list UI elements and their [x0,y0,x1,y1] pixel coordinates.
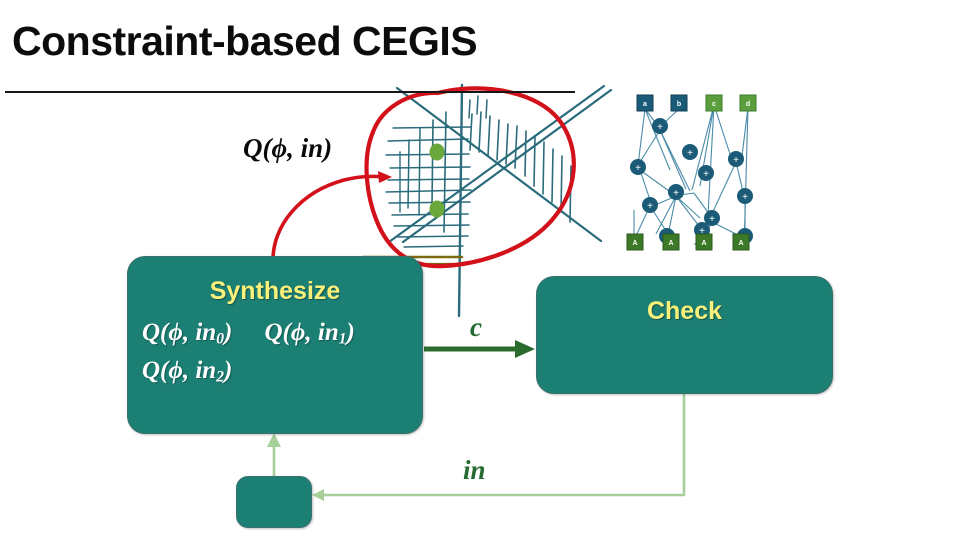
arrowhead-feedback-left [312,489,324,501]
dag-input-nodes: a b c d [637,95,756,111]
svg-text:+: + [709,214,715,225]
dag-output-nodes: A A A A [627,234,749,250]
synthesize-formula-row-2: Q(ϕ, in2) [142,357,232,386]
svg-text:b: b [677,101,681,108]
synthesize-formula-1: Q(ϕ, in1) [265,319,355,348]
formula-0-sub: 0 [216,330,224,347]
label-query-formula: Q(ϕ, in) [243,133,332,164]
svg-text:+: + [742,192,748,203]
svg-text:+: + [733,155,739,166]
svg-text:d: d [746,101,750,108]
counterexample-box[interactable] [236,476,312,528]
check-title: Check [537,297,832,326]
svg-text:A: A [701,240,706,247]
formula-1-head: Q(ϕ, in [265,319,339,346]
edge-label-candidate: c [470,312,482,343]
dag-operator-labels: + + + + + + + + + + + + [635,122,748,243]
svg-text:a: a [643,101,647,108]
formula-2-sub: 2 [216,368,224,385]
svg-text:c: c [712,101,716,108]
edge-label-input: in [463,455,486,486]
svg-text:+: + [657,122,663,133]
synthesize-formula-0: Q(ϕ, in0) [142,319,232,348]
svg-text:+: + [673,188,679,199]
svg-text:+: + [647,201,653,212]
page-title: Constraint-based CEGIS [12,18,477,65]
formula-0-head: Q(ϕ, in [142,319,216,346]
svg-text:A: A [738,240,743,247]
synthesize-formula-row-1: Q(ϕ, in0) Q(ϕ, in1) [142,319,355,348]
svg-text:A: A [668,240,673,247]
title-divider [5,91,575,93]
arrowhead-feedback-up [267,433,281,447]
slide-canvas: a b c d [0,0,960,540]
formula-0-tail: ) [224,319,232,346]
formula-2-head: Q(ϕ, in [142,357,216,384]
svg-text:+: + [687,148,693,159]
formula-1-tail: ) [346,319,354,346]
dag-diagram: a b c d [627,95,756,250]
synthesize-title: Synthesize [128,277,422,306]
dag-operator-nodes [630,118,753,244]
synthesize-box[interactable]: Synthesize Q(ϕ, in0) Q(ϕ, in1) Q(ϕ, in2) [127,256,423,434]
formula-2-tail: ) [224,357,232,384]
svg-text:+: + [635,163,641,174]
svg-text:+: + [703,169,709,180]
synthesize-formula-2: Q(ϕ, in2) [142,357,232,386]
check-box[interactable]: Check [536,276,833,394]
svg-text:A: A [632,240,637,247]
